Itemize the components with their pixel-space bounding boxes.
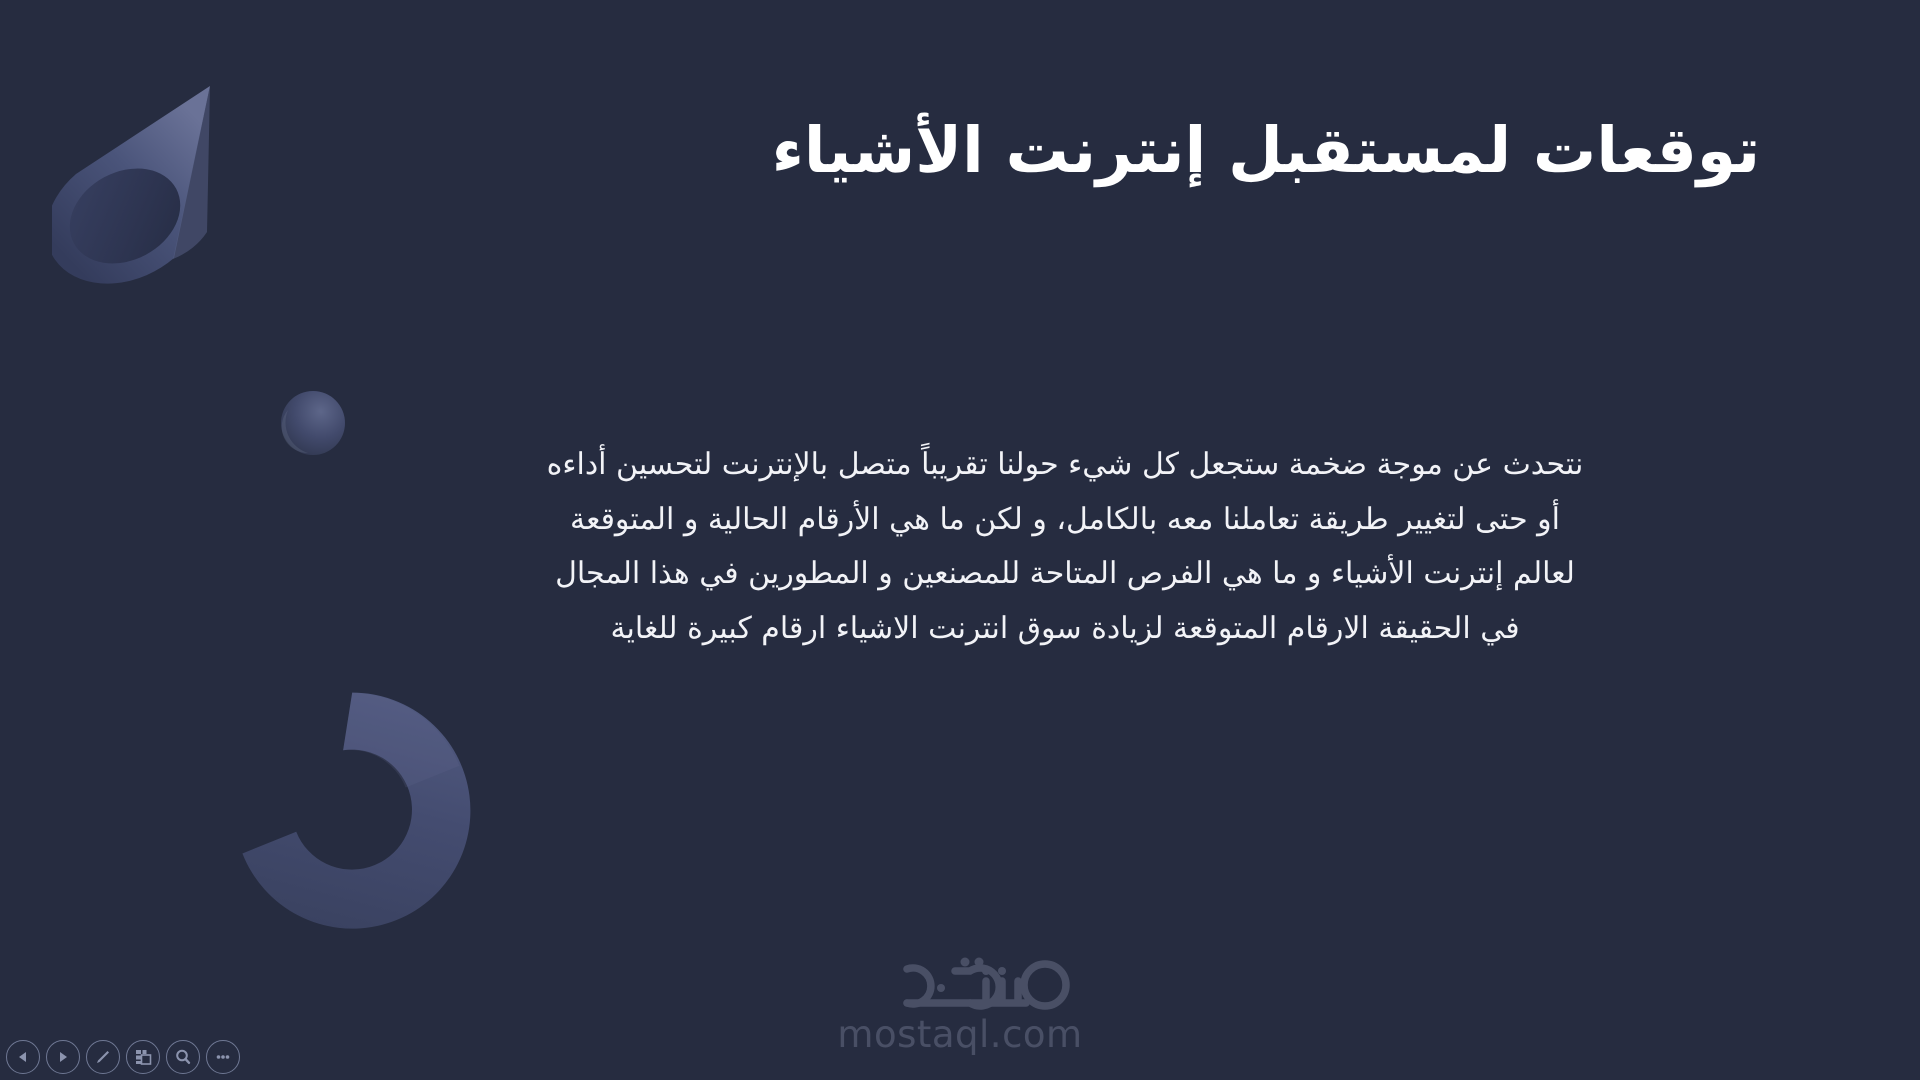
triangle-right-icon <box>55 1049 71 1065</box>
torus-arc-shape <box>200 660 500 960</box>
mostaql-watermark: mostaql.com <box>810 955 1110 1056</box>
mostaql-logo-icon <box>845 955 1075 1011</box>
slide-title: توقعات لمستقبل إنترنت الأشياء <box>400 112 1760 191</box>
cone-shape <box>52 62 282 292</box>
next-slide-button[interactable] <box>46 1040 80 1074</box>
watermark-domain: mostaql.com <box>810 1013 1110 1056</box>
ellipsis-icon <box>214 1048 232 1066</box>
sphere-shape <box>278 388 348 458</box>
grid-slides-icon <box>134 1048 152 1066</box>
pen-tool-button[interactable] <box>86 1040 120 1074</box>
pen-icon <box>94 1048 112 1066</box>
body-line: نتحدث عن موجة ضخمة ستجعل كل شيء حولنا تق… <box>370 438 1760 493</box>
search-icon <box>174 1048 192 1066</box>
previous-slide-button[interactable] <box>6 1040 40 1074</box>
body-paragraph: نتحدث عن موجة ضخمة ستجعل كل شيء حولنا تق… <box>370 438 1760 656</box>
triangle-left-icon <box>15 1049 31 1065</box>
title-block: توقعات لمستقبل إنترنت الأشياء <box>400 112 1760 191</box>
body-line: في الحقيقة الارقام المتوقعة لزيادة سوق ا… <box>370 602 1760 657</box>
body-line: لعالم إنترنت الأشياء و ما هي الفرص المتا… <box>370 547 1760 602</box>
presentation-slide: توقعات لمستقبل إنترنت الأشياء نتحدث عن م… <box>0 0 1920 1080</box>
body-line: أو حتى لتغيير طريقة تعاملنا معه بالكامل،… <box>370 493 1760 548</box>
slideshow-toolbar[interactable] <box>6 1040 240 1074</box>
slide-grid-button[interactable] <box>126 1040 160 1074</box>
zoom-button[interactable] <box>166 1040 200 1074</box>
body-block: نتحدث عن موجة ضخمة ستجعل كل شيء حولنا تق… <box>370 438 1760 656</box>
more-options-button[interactable] <box>206 1040 240 1074</box>
